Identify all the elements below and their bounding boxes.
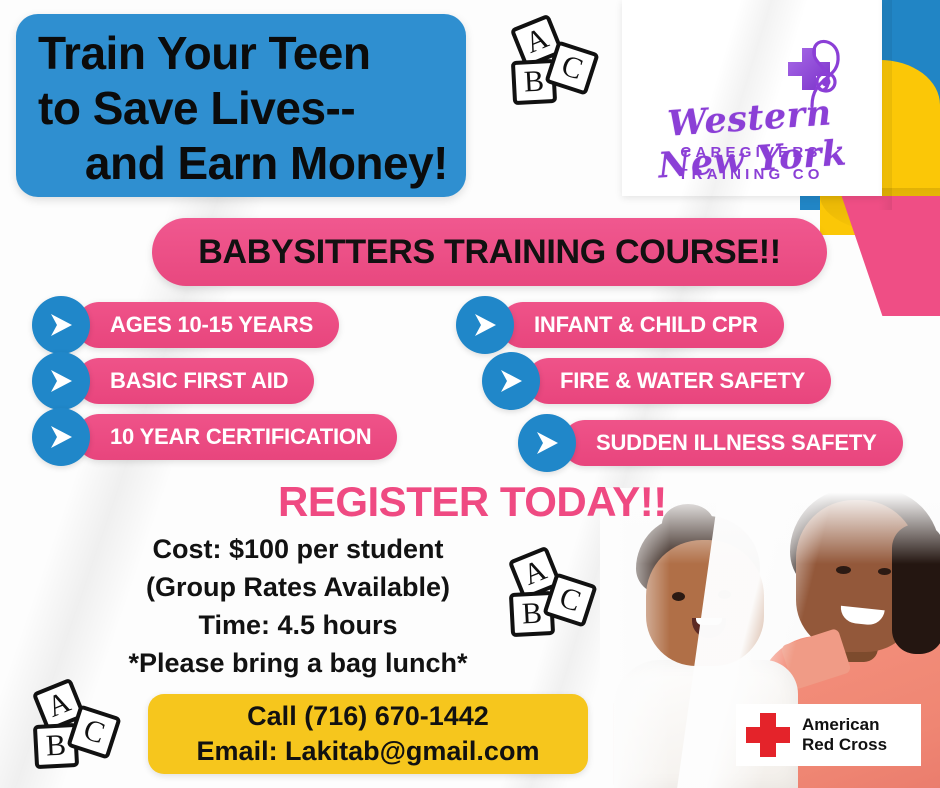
- logo-subtitle-2: TRAINING CO: [626, 166, 876, 183]
- detail-time: Time: 4.5 hours: [88, 606, 508, 644]
- feature-item-sudden-illness: SUDDEN ILLNESS SAFETY: [518, 414, 903, 472]
- abc-blocks-icon-top: A B C: [500, 14, 600, 114]
- flyer-poster: Train Your Teen to Save Lives-- and Earn…: [0, 0, 940, 788]
- detail-cost: Cost: $100 per student: [88, 530, 508, 568]
- headline-line-1: Train Your Teen: [38, 26, 448, 81]
- american-red-cross-logo: American Red Cross: [736, 704, 921, 766]
- arrow-right-icon: [482, 352, 540, 410]
- contact-banner[interactable]: Call (716) 670-1442 Email: Lakitab@gmail…: [148, 694, 588, 774]
- feature-pill: AGES 10-15 YEARS: [76, 302, 339, 348]
- feature-label: FIRE & WATER SAFETY: [560, 368, 805, 394]
- abc-blocks-icon-bottom: A B C: [22, 678, 122, 778]
- feature-label: 10 YEAR CERTIFICATION: [110, 424, 371, 450]
- feature-label: AGES 10-15 YEARS: [110, 312, 313, 338]
- course-title-banner: BABYSITTERS TRAINING COURSE!!: [152, 218, 827, 286]
- photo-woman-eye-left: [836, 566, 851, 574]
- arrow-right-icon: [456, 296, 514, 354]
- feature-pill: SUDDEN ILLNESS SAFETY: [562, 420, 903, 466]
- arrow-right-icon: [32, 408, 90, 466]
- red-cross-label: American Red Cross: [802, 715, 887, 755]
- register-heading: REGISTER TODAY!!: [278, 478, 667, 526]
- company-logo: Western New York CAREGIVERS TRAINING CO: [626, 20, 876, 192]
- arrow-right-icon: [518, 414, 576, 472]
- headline-banner: Train Your Teen to Save Lives-- and Earn…: [16, 14, 466, 197]
- contact-email[interactable]: Email: Lakitab@gmail.com: [197, 734, 540, 769]
- feature-item-ages: AGES 10-15 YEARS: [32, 296, 339, 354]
- feature-item-cpr: INFANT & CHILD CPR: [456, 296, 784, 354]
- photo-woman-eye-right: [878, 568, 891, 575]
- feature-label: BASIC FIRST AID: [110, 368, 288, 394]
- headline-line-3: and Earn Money!: [38, 136, 448, 191]
- feature-item-first-aid: BASIC FIRST AID: [32, 352, 314, 410]
- feature-pill: BASIC FIRST AID: [76, 358, 314, 404]
- detail-note: *Please bring a bag lunch*: [88, 644, 508, 682]
- red-cross-line-2: Red Cross: [802, 735, 887, 755]
- feature-label: INFANT & CHILD CPR: [534, 312, 758, 338]
- headline-line-2: to Save Lives--: [38, 81, 448, 136]
- red-cross-line-1: American: [802, 715, 887, 735]
- course-title-text: BABYSITTERS TRAINING COURSE!!: [198, 233, 781, 272]
- photo-baby-eye-left: [672, 592, 685, 601]
- course-details: Cost: $100 per student (Group Rates Avai…: [88, 530, 508, 682]
- logo-subtitle-1: CAREGIVERS: [626, 144, 876, 161]
- feature-pill: 10 YEAR CERTIFICATION: [76, 414, 397, 460]
- feature-pill: FIRE & WATER SAFETY: [526, 358, 831, 404]
- arrow-right-icon: [32, 352, 90, 410]
- detail-group: (Group Rates Available): [88, 568, 508, 606]
- feature-pill: INFANT & CHILD CPR: [500, 302, 784, 348]
- arrow-right-icon: [32, 296, 90, 354]
- feature-label: SUDDEN ILLNESS SAFETY: [596, 430, 877, 456]
- red-cross-icon: [746, 713, 790, 757]
- feature-item-certification: 10 YEAR CERTIFICATION: [32, 408, 397, 466]
- abc-blocks-icon-middle: A B C: [498, 546, 598, 646]
- contact-phone[interactable]: Call (716) 670-1442: [247, 699, 489, 734]
- feature-item-fire-water: FIRE & WATER SAFETY: [482, 352, 831, 410]
